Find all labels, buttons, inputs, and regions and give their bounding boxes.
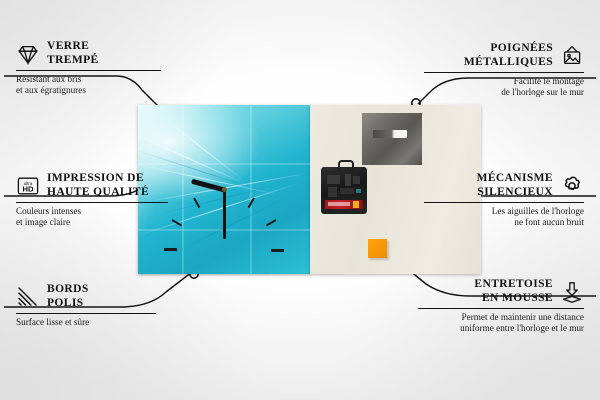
callout-rule [424,72,584,73]
foam-spacer-arrow-icon [560,280,584,304]
wall-mount-frame-icon [560,44,584,68]
callout-bords-polis: BORDS POLIS Surface lisse et sûre [16,283,156,328]
callout-title: POIGNÉES MÉTALLIQUES [464,42,553,69]
clock-tick [164,249,224,251]
callout-mecanisme-silencieux: MÉCANISME SILENCIEUX Les aiguilles de l'… [424,172,584,229]
callout-description: Les aiguilles de l'horloge ne font aucun… [424,206,584,229]
callout-verre-trempe: VERRE TREMPÉ Résistant aux bris et aux é… [16,40,161,97]
callout-description: Surface lisse et sûre [16,317,156,328]
polished-edge-icon [16,285,40,309]
callout-description: Couleurs intenses et image claire [16,206,168,229]
clock-minute-hand [223,190,226,239]
foam-spacer [368,239,387,258]
callout-description: Résistant aux bris et aux égratignures [16,74,161,97]
ultra-hd-icon: ultra HD [16,174,40,198]
svg-text:HD: HD [23,184,34,193]
callout-description: Facilite le montage de l'horloge sur le … [424,76,584,99]
callout-description: Permet de maintenir une distance uniform… [418,312,584,335]
callout-title: BORDS POLIS [47,283,89,310]
callout-rule [16,70,161,71]
clock-hour-hand [191,178,225,192]
callout-rule [424,202,584,203]
callout-entretoise-en-mousse: ENTRETOISE EN MOUSSE Permet de maintenir… [418,278,584,335]
diamond-icon [16,42,40,66]
callout-title: MÉCANISME SILENCIEUX [477,172,553,199]
callout-title: ENTRETOISE EN MOUSSE [474,278,553,305]
callout-rule [418,308,584,309]
callout-impression-haute-qualite: ultra HD IMPRESSION DE HAUTE QUALITÉ Cou… [16,172,168,229]
callout-rule [16,313,156,314]
callout-rule [16,202,168,203]
callout-title: IMPRESSION DE HAUTE QUALITÉ [47,172,149,199]
callout-title: VERRE TREMPÉ [47,40,99,67]
gear-icon [560,174,584,198]
infographic-canvas: VERRE TREMPÉ Résistant aux bris et aux é… [0,0,600,400]
callout-poignees-metalliques: POIGNÉES MÉTALLIQUES Facilite le montage… [424,42,584,99]
clock-mechanism [321,167,367,214]
clock-tick [224,249,284,251]
battery [325,200,363,209]
metal-hanger [362,113,422,165]
clock-center-cap [222,187,227,192]
